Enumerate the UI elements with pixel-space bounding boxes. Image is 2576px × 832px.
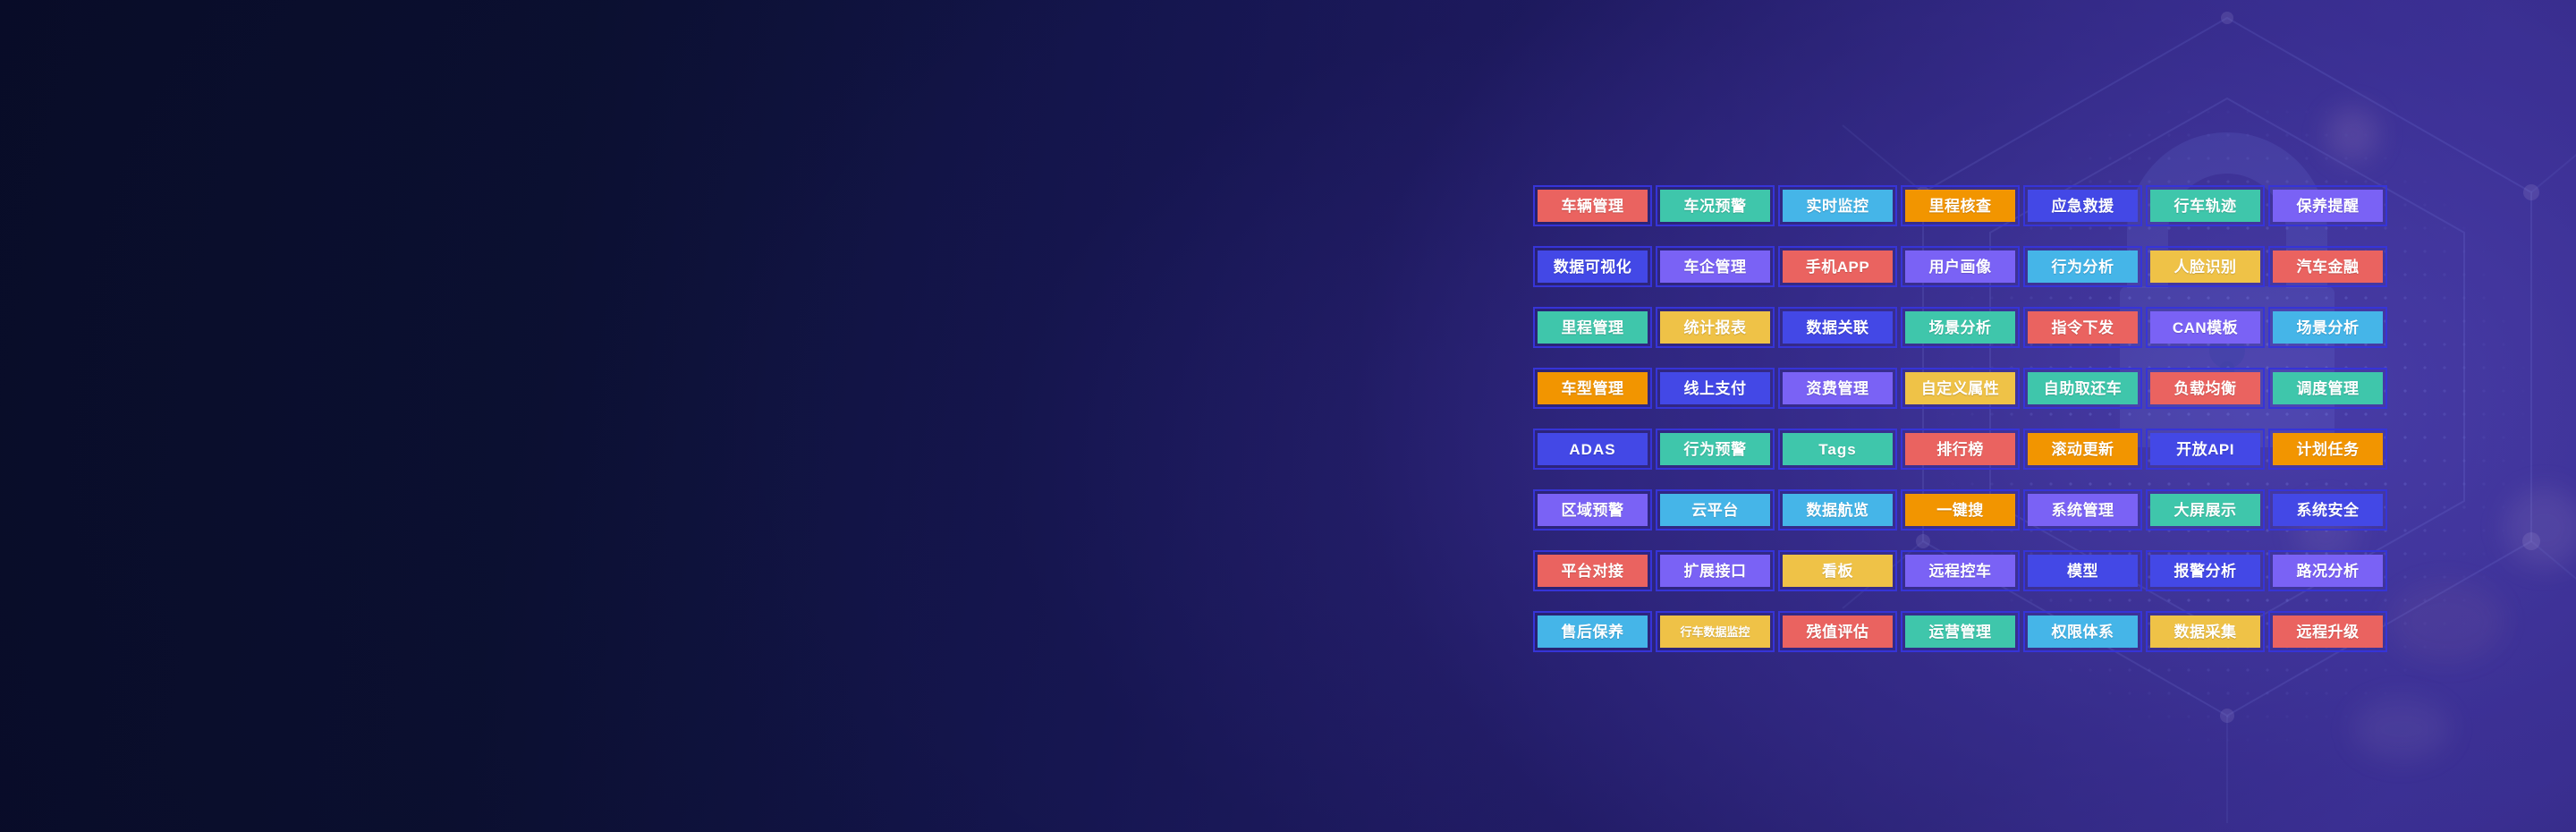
- tag-tile[interactable]: 区域预警: [1533, 489, 1652, 531]
- tag-tile[interactable]: 云平台: [1656, 489, 1775, 531]
- tag-label: 售后保养: [1538, 616, 1648, 648]
- tag-label: 应急救援: [2028, 190, 2138, 222]
- tag-tile[interactable]: 调度管理: [2268, 368, 2387, 409]
- tag-label: 残值评估: [1783, 616, 1893, 648]
- tag-tile[interactable]: 一键搜: [1901, 489, 2020, 531]
- screen: 车辆管理车况预警实时监控里程核查应急救援行车轨迹保养提醒数据可视化车企管理手机A…: [0, 0, 2576, 832]
- tag-tile[interactable]: 计划任务: [2268, 429, 2387, 470]
- tag-label: 数据关联: [1783, 311, 1893, 344]
- tag-tile[interactable]: 行为预警: [1656, 429, 1775, 470]
- tag-label: 车辆管理: [1538, 190, 1648, 222]
- tag-label: 人脸识别: [2150, 250, 2260, 283]
- tag-label: Tags: [1783, 433, 1893, 465]
- tag-label: 线上支付: [1660, 372, 1770, 404]
- tag-tile[interactable]: 远程升级: [2268, 611, 2387, 652]
- tag-tile[interactable]: 开放API: [2146, 429, 2265, 470]
- tag-tile[interactable]: CAN模板: [2146, 307, 2265, 348]
- tag-tile[interactable]: 看板: [1778, 550, 1897, 591]
- tag-tile[interactable]: 路况分析: [2268, 550, 2387, 591]
- tag-tile[interactable]: 数据航览: [1778, 489, 1897, 531]
- tag-label: 区域预警: [1538, 494, 1648, 526]
- tag-tile[interactable]: 排行榜: [1901, 429, 2020, 470]
- tag-label: 场景分析: [1905, 311, 2015, 344]
- tag-label: 行为分析: [2028, 250, 2138, 283]
- tag-tile[interactable]: 扩展接口: [1656, 550, 1775, 591]
- tag-label: 路况分析: [2273, 555, 2383, 587]
- tag-label: 排行榜: [1905, 433, 2015, 465]
- tag-label: 车型管理: [1538, 372, 1648, 404]
- tag-tile[interactable]: 自助取还车: [2023, 368, 2142, 409]
- tag-tile[interactable]: 线上支付: [1656, 368, 1775, 409]
- tag-tile[interactable]: 系统管理: [2023, 489, 2142, 531]
- tag-label: 手机APP: [1783, 250, 1893, 283]
- tag-label: 云平台: [1660, 494, 1770, 526]
- tag-tile[interactable]: 报警分析: [2146, 550, 2265, 591]
- tag-tile[interactable]: 手机APP: [1778, 246, 1897, 287]
- tag-label: 一键搜: [1905, 494, 2015, 526]
- tag-tile[interactable]: 行车数据监控: [1656, 611, 1775, 652]
- tag-label: 指令下发: [2028, 311, 2138, 344]
- tag-tile[interactable]: 指令下发: [2023, 307, 2142, 348]
- tag-tile[interactable]: 残值评估: [1778, 611, 1897, 652]
- tag-label: 远程升级: [2273, 616, 2383, 648]
- tag-label: 用户画像: [1905, 250, 2015, 283]
- tag-label: 行车数据监控: [1660, 616, 1770, 648]
- tag-tile[interactable]: 应急救援: [2023, 185, 2142, 226]
- tag-tile[interactable]: 行为分析: [2023, 246, 2142, 287]
- tag-tile[interactable]: 模型: [2023, 550, 2142, 591]
- tag-tile[interactable]: ADAS: [1533, 429, 1652, 470]
- tag-tile[interactable]: 实时监控: [1778, 185, 1897, 226]
- tag-tile[interactable]: 资费管理: [1778, 368, 1897, 409]
- tag-tile[interactable]: 车型管理: [1533, 368, 1652, 409]
- tag-label: 扩展接口: [1660, 555, 1770, 587]
- tag-label: 调度管理: [2273, 372, 2383, 404]
- tag-label: ADAS: [1538, 433, 1648, 465]
- tag-tile[interactable]: 系统安全: [2268, 489, 2387, 531]
- tag-label: 自助取还车: [2028, 372, 2138, 404]
- tag-label: 实时监控: [1783, 190, 1893, 222]
- tag-label: 场景分析: [2273, 311, 2383, 344]
- tag-label: 运营管理: [1905, 616, 2015, 648]
- tag-label: 数据航览: [1783, 494, 1893, 526]
- tag-label: 数据采集: [2150, 616, 2260, 648]
- tag-tile[interactable]: 售后保养: [1533, 611, 1652, 652]
- tag-tile[interactable]: 用户画像: [1901, 246, 2020, 287]
- tag-tile[interactable]: 车辆管理: [1533, 185, 1652, 226]
- tag-tile[interactable]: 车企管理: [1656, 246, 1775, 287]
- tag-tile[interactable]: 运营管理: [1901, 611, 2020, 652]
- tag-label: 里程管理: [1538, 311, 1648, 344]
- tag-label: 滚动更新: [2028, 433, 2138, 465]
- tag-label: 里程核查: [1905, 190, 2015, 222]
- tag-label: CAN模板: [2150, 311, 2260, 344]
- tag-label: 行为预警: [1660, 433, 1770, 465]
- tag-tile[interactable]: 车况预警: [1656, 185, 1775, 226]
- tag-label: 行车轨迹: [2150, 190, 2260, 222]
- tag-label: 远程控车: [1905, 555, 2015, 587]
- feature-tag-grid: 车辆管理车况预警实时监控里程核查应急救援行车轨迹保养提醒数据可视化车企管理手机A…: [1533, 185, 2387, 652]
- tag-label: 自定义属性: [1905, 372, 2015, 404]
- tag-tile[interactable]: 数据关联: [1778, 307, 1897, 348]
- tag-label: 统计报表: [1660, 311, 1770, 344]
- tag-tile[interactable]: 负载均衡: [2146, 368, 2265, 409]
- tag-label: 负载均衡: [2150, 372, 2260, 404]
- tag-label: 系统安全: [2273, 494, 2383, 526]
- tag-tile[interactable]: 里程核查: [1901, 185, 2020, 226]
- tag-label: 车况预警: [1660, 190, 1770, 222]
- tag-label: 开放API: [2150, 433, 2260, 465]
- tag-label: 数据可视化: [1538, 250, 1648, 283]
- tag-tile[interactable]: 自定义属性: [1901, 368, 2020, 409]
- tag-tile[interactable]: 远程控车: [1901, 550, 2020, 591]
- tag-label: 汽车金融: [2273, 250, 2383, 283]
- tag-tile[interactable]: 汽车金融: [2268, 246, 2387, 287]
- tag-tile[interactable]: 大屏展示: [2146, 489, 2265, 531]
- tag-tile[interactable]: 数据采集: [2146, 611, 2265, 652]
- tag-tile[interactable]: 滚动更新: [2023, 429, 2142, 470]
- tag-label: 报警分析: [2150, 555, 2260, 587]
- tag-tile[interactable]: 数据可视化: [1533, 246, 1652, 287]
- tag-label: 车企管理: [1660, 250, 1770, 283]
- tag-label: 看板: [1783, 555, 1893, 587]
- tag-label: 模型: [2028, 555, 2138, 587]
- tag-label: 计划任务: [2273, 433, 2383, 465]
- tag-tile[interactable]: 保养提醒: [2268, 185, 2387, 226]
- tag-tile[interactable]: 人脸识别: [2146, 246, 2265, 287]
- tag-label: 大屏展示: [2150, 494, 2260, 526]
- tag-tile[interactable]: 场景分析: [1901, 307, 2020, 348]
- tag-tile[interactable]: 统计报表: [1656, 307, 1775, 348]
- tag-label: 保养提醒: [2273, 190, 2383, 222]
- tag-tile[interactable]: 场景分析: [2268, 307, 2387, 348]
- tag-tile[interactable]: 行车轨迹: [2146, 185, 2265, 226]
- tag-tile[interactable]: Tags: [1778, 429, 1897, 470]
- tag-tile[interactable]: 权限体系: [2023, 611, 2142, 652]
- tag-tile[interactable]: 平台对接: [1533, 550, 1652, 591]
- tag-label: 权限体系: [2028, 616, 2138, 648]
- tag-label: 系统管理: [2028, 494, 2138, 526]
- tag-label: 平台对接: [1538, 555, 1648, 587]
- tag-tile[interactable]: 里程管理: [1533, 307, 1652, 348]
- tag-label: 资费管理: [1783, 372, 1893, 404]
